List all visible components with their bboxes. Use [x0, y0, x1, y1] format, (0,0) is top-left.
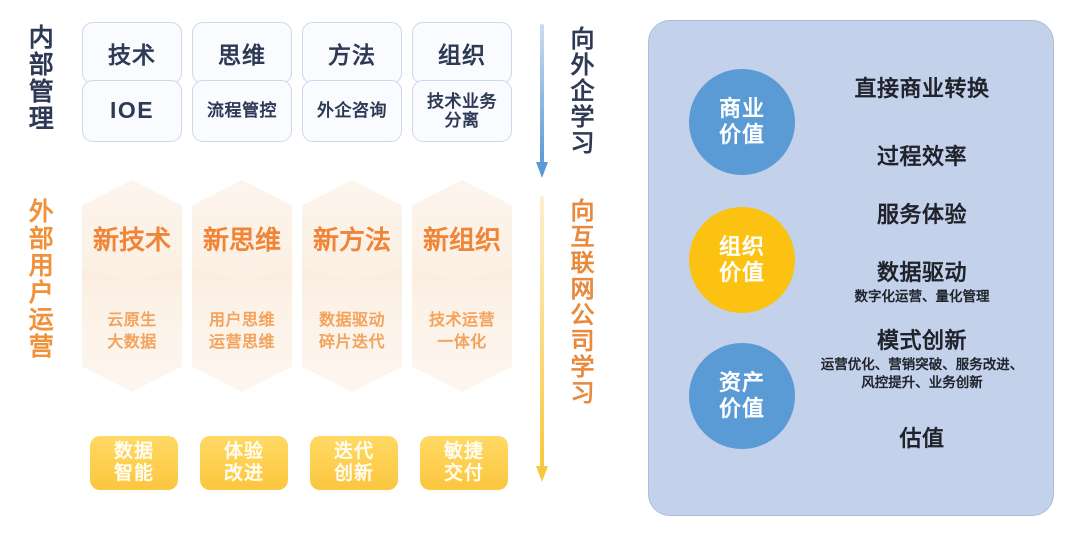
- row-label-internal: 内部管理: [26, 24, 52, 132]
- value-item: 直接商业转换: [799, 75, 1045, 103]
- top-box-title: 思维: [192, 22, 292, 84]
- value-item-main: 估值: [799, 425, 1045, 453]
- right-panel: 商业价值 组织价值 资产价值 直接商业转换 过程效率 服务体验 数据驱动 数字化…: [648, 20, 1054, 516]
- middle-hex-title: 新技术: [82, 220, 182, 257]
- middle-hex-row: 新技术 云原生大数据 新思维 用户思维运营思维 新方法 数据驱动碎片迭代 新组织…: [82, 180, 522, 392]
- bottom-pill[interactable]: 体验改进: [200, 436, 288, 490]
- value-item-main: 数据驱动: [799, 259, 1045, 287]
- arrow-shaft: [540, 196, 544, 468]
- chevron-divider-icon: [82, 269, 182, 294]
- value-item-main: 模式创新: [799, 327, 1045, 355]
- top-box-sub: 外企咨询: [302, 80, 402, 142]
- middle-hex-title: 新组织: [412, 220, 512, 257]
- middle-hex-title: 新思维: [192, 220, 292, 257]
- top-box-title: 技术: [82, 22, 182, 84]
- bottom-pill-row: 数据智能 体验改进 迭代创新 敏捷交付: [90, 436, 530, 494]
- middle-hex-box[interactable]: 新技术 云原生大数据: [82, 180, 182, 392]
- middle-hex-title: 新方法: [302, 220, 402, 257]
- middle-hex-box[interactable]: 新思维 用户思维运营思维: [192, 180, 292, 392]
- arrow-label-learn-internet: 向互联网公司学习: [562, 198, 597, 406]
- top-box-sub: 技术业务分离: [412, 80, 512, 142]
- top-box-group[interactable]: 方法 外企咨询: [302, 22, 402, 158]
- top-box-title: 组织: [412, 22, 512, 84]
- arrow-shaft: [540, 24, 544, 164]
- top-box-group[interactable]: 技术 IOE: [82, 22, 182, 158]
- middle-hex-box[interactable]: 新组织 技术运营一体化: [412, 180, 512, 392]
- middle-hex-sub: 数据驱动碎片迭代: [302, 310, 402, 353]
- middle-hex-sub: 云原生大数据: [82, 310, 182, 353]
- chevron-divider-icon: [412, 269, 512, 294]
- chevron-divider-icon: [192, 269, 292, 294]
- middle-hex-box[interactable]: 新方法 数据驱动碎片迭代: [302, 180, 402, 392]
- value-item: 过程效率: [799, 143, 1045, 171]
- diagram-canvas: 内部管理 外部用户运营 技术 IOE 思维 流程管控 方法 外企咨询 组织 技术…: [0, 0, 1080, 536]
- top-box-group[interactable]: 组织 技术业务分离: [412, 22, 512, 158]
- value-item-sub: 运营优化、营销突破、服务改进、风控提升、业务创新: [799, 356, 1045, 392]
- value-item-main: 直接商业转换: [799, 75, 1045, 103]
- top-box-title: 方法: [302, 22, 402, 84]
- down-arrow-icon-yellow: [536, 196, 548, 486]
- value-item: 估值: [799, 425, 1045, 453]
- value-item: 模式创新 运营优化、营销突破、服务改进、风控提升、业务创新: [799, 327, 1045, 392]
- down-arrow-icon-blue: [536, 24, 548, 180]
- middle-hex-sub: 用户思维运营思维: [192, 310, 292, 353]
- arrow-head: [536, 466, 548, 482]
- value-circle-organization[interactable]: 组织价值: [689, 207, 795, 313]
- top-box-sub: IOE: [82, 80, 182, 142]
- value-item: 服务体验: [799, 201, 1045, 229]
- top-box-sub: 流程管控: [192, 80, 292, 142]
- row-label-external: 外部用户运营: [26, 198, 52, 360]
- middle-hex-sub: 技术运营一体化: [412, 310, 512, 353]
- value-item-main: 服务体验: [799, 201, 1045, 229]
- value-circle-asset[interactable]: 资产价值: [689, 343, 795, 449]
- arrow-label-learn-foreign: 向外企学习: [562, 26, 597, 156]
- top-box-group[interactable]: 思维 流程管控: [192, 22, 292, 158]
- bottom-pill[interactable]: 敏捷交付: [420, 436, 508, 490]
- top-box-row: 技术 IOE 思维 流程管控 方法 外企咨询 组织 技术业务分离: [82, 22, 522, 158]
- arrow-head: [536, 162, 548, 178]
- bottom-pill[interactable]: 迭代创新: [310, 436, 398, 490]
- value-item-sub: 数字化运营、量化管理: [799, 288, 1045, 306]
- value-item-main: 过程效率: [799, 143, 1045, 171]
- left-panel: 内部管理 外部用户运营 技术 IOE 思维 流程管控 方法 外企咨询 组织 技术…: [0, 0, 640, 536]
- value-circle-business[interactable]: 商业价值: [689, 69, 795, 175]
- bottom-pill[interactable]: 数据智能: [90, 436, 178, 490]
- chevron-divider-icon: [302, 269, 402, 294]
- value-item: 数据驱动 数字化运营、量化管理: [799, 259, 1045, 306]
